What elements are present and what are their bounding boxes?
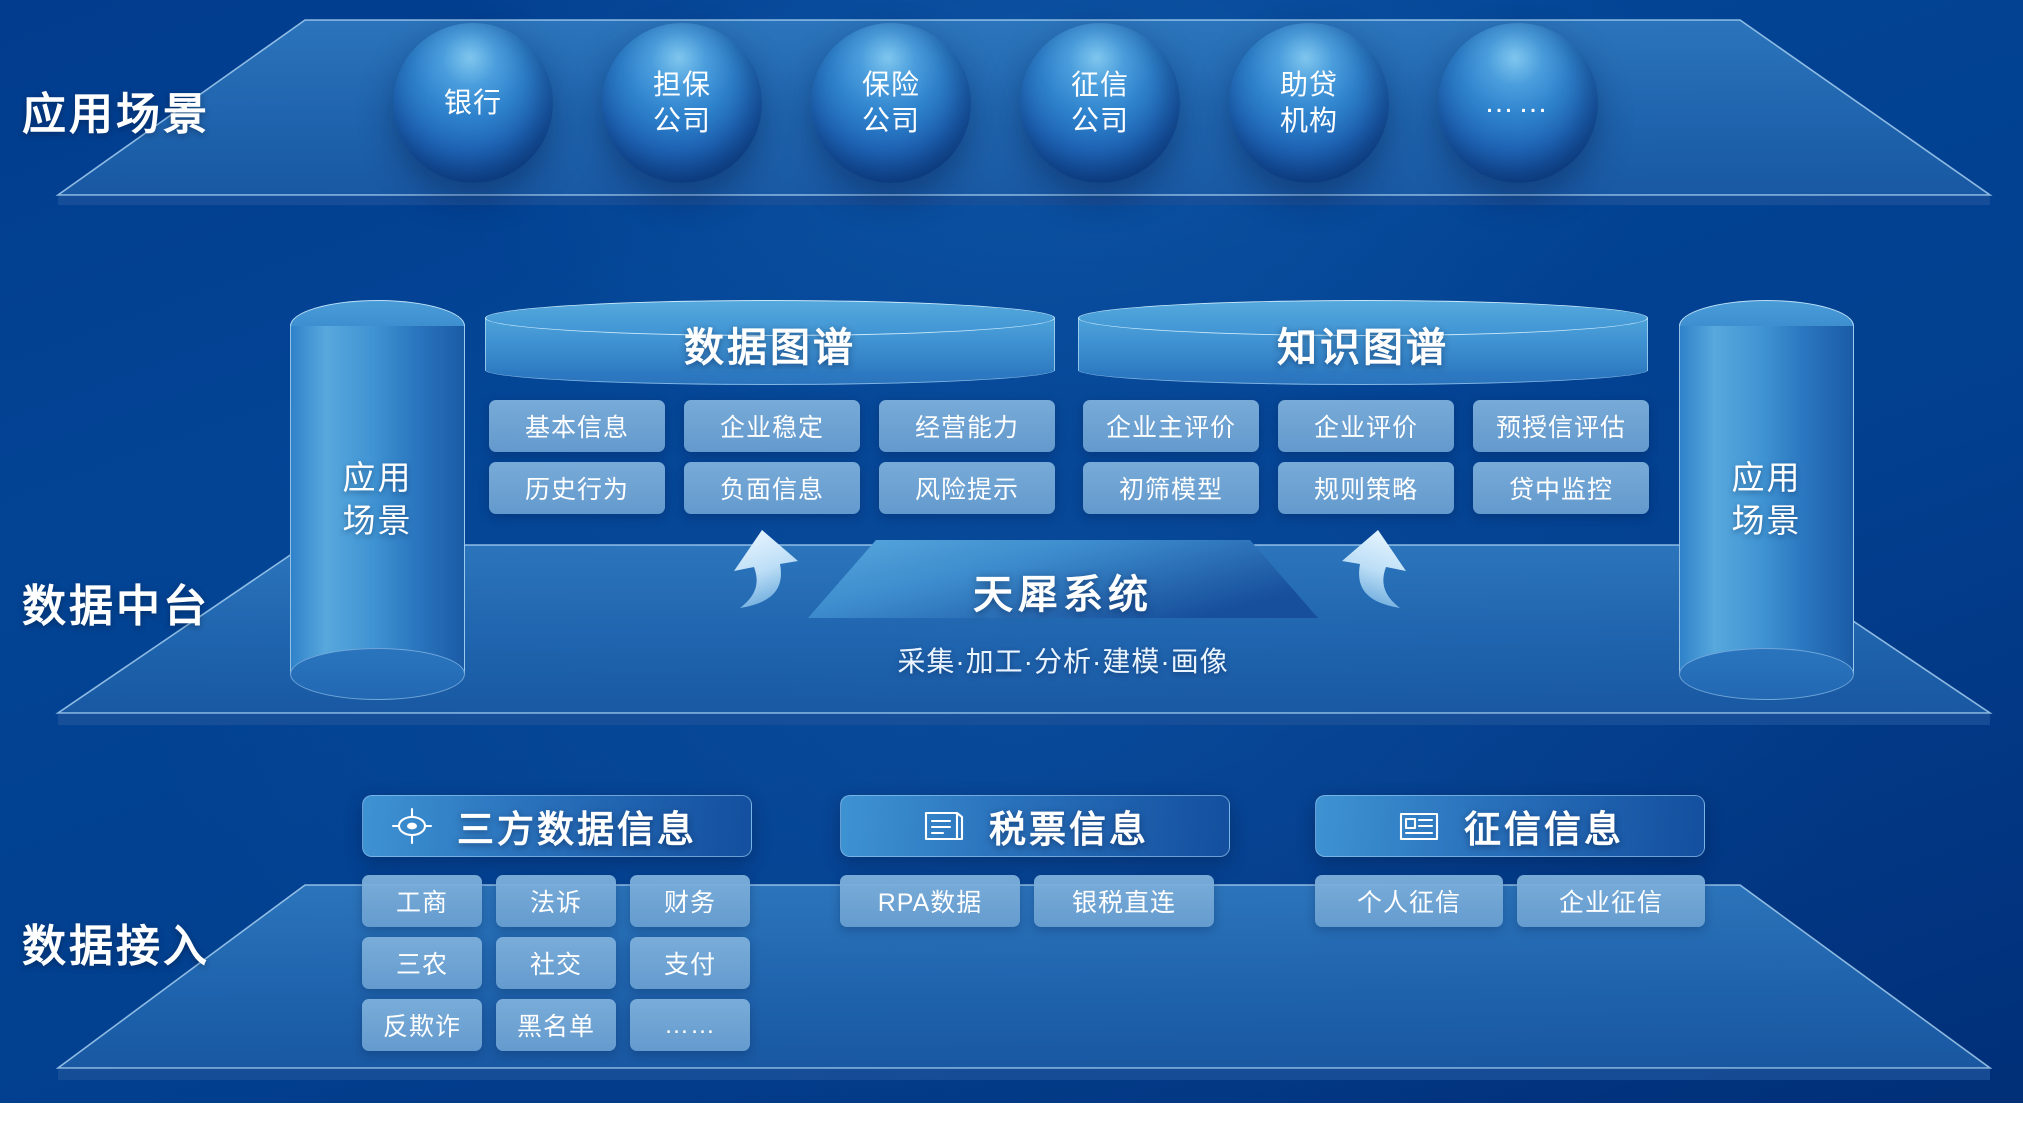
source-tag-more[interactable]: ……: [630, 999, 750, 1051]
chip-label: 预授信评估: [1496, 408, 1626, 444]
section-label-middle-platform: 数据中台: [22, 570, 210, 634]
source-tag-gongshang[interactable]: 工商: [362, 875, 482, 927]
source-tag-zhifu[interactable]: 支付: [630, 937, 750, 989]
data-graph-chip-basic-info[interactable]: 基本信息: [489, 400, 665, 452]
invoice-document-icon: [921, 806, 967, 846]
diagram-canvas: 应用场景 数据中台 数据接入 银行 担保 公司 保险 公司 征信 公司: [0, 0, 2023, 1103]
cylinder-label: 应用 场景: [290, 457, 465, 543]
chip-label: 银税直连: [1072, 883, 1176, 919]
chip-label: 黑名单: [517, 1007, 595, 1043]
data-graph-chip-historical-behavior[interactable]: 历史行为: [489, 462, 665, 514]
chip-label: 贷中监控: [1509, 470, 1613, 506]
chip-label: 反欺诈: [383, 1007, 461, 1043]
cylinder-label: 应用 场景: [1679, 457, 1854, 543]
chip-label: 基本信息: [525, 408, 629, 444]
source-tag-heimingdan[interactable]: 黑名单: [496, 999, 616, 1051]
source-card-title: 三方数据信息: [457, 799, 697, 853]
chip-label: 财务: [664, 883, 716, 919]
chip-label: 规则策略: [1314, 470, 1418, 506]
data-graph-disc[interactable]: 数据图谱: [485, 300, 1055, 385]
knowledge-graph-title: 知识图谱: [1078, 315, 1648, 373]
chip-label: 企业稳定: [720, 408, 824, 444]
knowledge-graph-chip-pre-credit-assessment[interactable]: 预授信评估: [1473, 400, 1649, 452]
source-tag-rpa-data[interactable]: RPA数据: [840, 875, 1020, 927]
source-tag-sannong[interactable]: 三农: [362, 937, 482, 989]
scenario-sphere-label: 担保: [653, 67, 711, 103]
right-cylinder-application-scenario[interactable]: 应用 场景: [1679, 300, 1854, 700]
scenario-sphere-insurance[interactable]: 保险 公司: [811, 23, 971, 183]
section-label-application: 应用场景: [22, 78, 210, 142]
tianxi-system-title: 天犀系统: [808, 562, 1318, 620]
source-tag-fasu[interactable]: 法诉: [496, 875, 616, 927]
left-cylinder-application-scenario[interactable]: 应用 场景: [290, 300, 465, 700]
tianxi-system-subtitle: 采集·加工·分析·建模·画像: [808, 640, 1318, 680]
architecture-diagram: 应用场景 数据中台 数据接入 银行 担保 公司 保险 公司 征信 公司: [0, 0, 2023, 1130]
source-card-header-credit-report[interactable]: 征信信息: [1315, 795, 1705, 857]
chip-label: 支付: [664, 945, 716, 981]
data-graph-chip-risk-alert[interactable]: 风险提示: [879, 462, 1055, 514]
chip-label: 三农: [396, 945, 448, 981]
id-card-icon: [1396, 806, 1442, 846]
scenario-sphere-credit-agency[interactable]: 征信 公司: [1020, 23, 1180, 183]
target-crosshair-icon: [389, 806, 435, 846]
left-up-arrow-icon: [710, 528, 810, 623]
source-tag-caiwu[interactable]: 财务: [630, 875, 750, 927]
chip-label: 风险提示: [915, 470, 1019, 506]
knowledge-graph-chip-owner-evaluation[interactable]: 企业主评价: [1083, 400, 1259, 452]
chip-label: 工商: [396, 883, 448, 919]
source-card-title: 征信信息: [1464, 799, 1624, 853]
source-tag-bank-tax-direct[interactable]: 银税直连: [1034, 875, 1214, 927]
cylinder-bottom-ellipse: [1679, 648, 1854, 700]
scenario-sphere-label: 保险: [862, 67, 920, 103]
scenario-sphere-loan-facilitation[interactable]: 助贷 机构: [1229, 23, 1389, 183]
source-tag-personal-credit[interactable]: 个人征信: [1315, 875, 1503, 927]
knowledge-graph-chip-enterprise-evaluation[interactable]: 企业评价: [1278, 400, 1454, 452]
data-graph-chip-negative-info[interactable]: 负面信息: [684, 462, 860, 514]
source-tag-enterprise-credit[interactable]: 企业征信: [1517, 875, 1705, 927]
source-card-header-third-party[interactable]: 三方数据信息: [362, 795, 752, 857]
chip-label: 社交: [530, 945, 582, 981]
source-tag-shejiao[interactable]: 社交: [496, 937, 616, 989]
source-tag-fanqizha[interactable]: 反欺诈: [362, 999, 482, 1051]
chip-label: ……: [664, 1011, 716, 1040]
source-card-header-tax-invoice[interactable]: 税票信息: [840, 795, 1230, 857]
scenario-sphere-guarantee[interactable]: 担保 公司: [602, 23, 762, 183]
cylinder-bottom-ellipse: [290, 648, 465, 700]
data-graph-chip-operating-capability[interactable]: 经营能力: [879, 400, 1055, 452]
chip-label: 负面信息: [720, 470, 824, 506]
chip-label: 企业主评价: [1106, 408, 1236, 444]
chip-label: 企业征信: [1559, 883, 1663, 919]
scenario-sphere-label-2: 公司: [862, 103, 920, 139]
knowledge-graph-chip-screening-model[interactable]: 初筛模型: [1083, 462, 1259, 514]
tianxi-system-banner[interactable]: 天犀系统: [808, 540, 1318, 620]
section-label-data-access: 数据接入: [22, 910, 210, 974]
chip-label: 经营能力: [915, 408, 1019, 444]
right-up-arrow-icon: [1330, 528, 1430, 623]
data-graph-chip-enterprise-stability[interactable]: 企业稳定: [684, 400, 860, 452]
knowledge-graph-disc[interactable]: 知识图谱: [1078, 300, 1648, 385]
scenario-sphere-more[interactable]: ……: [1438, 23, 1598, 183]
knowledge-graph-chip-in-loan-monitoring[interactable]: 贷中监控: [1473, 462, 1649, 514]
scenario-sphere-bank[interactable]: 银行: [393, 23, 553, 183]
data-graph-title: 数据图谱: [485, 315, 1055, 373]
scenario-sphere-label: 银行: [444, 85, 502, 121]
chip-label: RPA数据: [878, 883, 983, 919]
chip-label: 企业评价: [1314, 408, 1418, 444]
chip-label: 法诉: [530, 883, 582, 919]
scenario-sphere-label-2: 公司: [1071, 103, 1129, 139]
chip-label: 初筛模型: [1119, 470, 1223, 506]
knowledge-graph-chip-rule-strategy[interactable]: 规则策略: [1278, 462, 1454, 514]
chip-label: 历史行为: [525, 470, 629, 506]
scenario-sphere-label: ……: [1484, 84, 1552, 122]
scenario-sphere-label-2: 公司: [653, 103, 711, 139]
chip-label: 个人征信: [1357, 883, 1461, 919]
scenario-sphere-label: 征信: [1071, 67, 1129, 103]
source-card-title: 税票信息: [989, 799, 1149, 853]
scenario-sphere-label: 助贷: [1280, 67, 1338, 103]
scenario-sphere-label-2: 机构: [1280, 103, 1338, 139]
